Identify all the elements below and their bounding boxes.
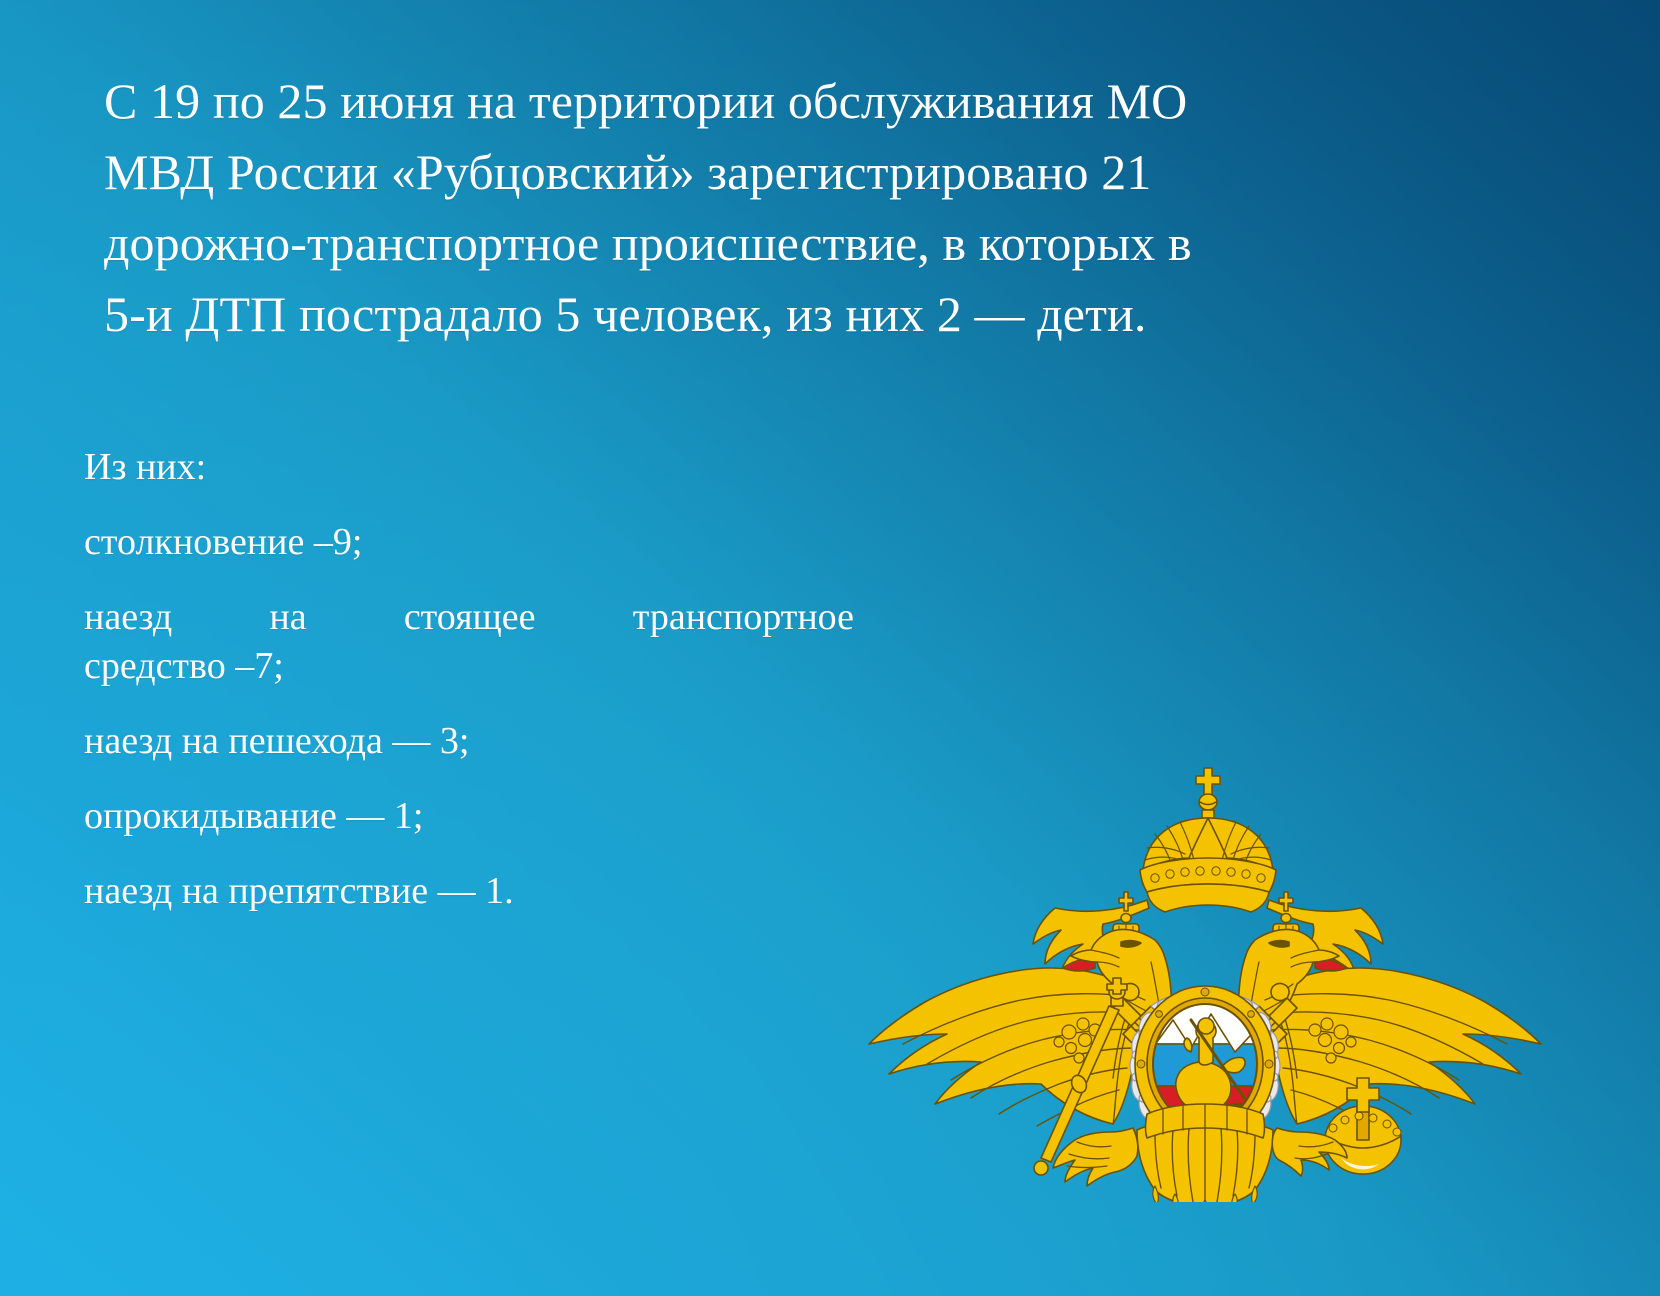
list-item-pedestrian: наезд на пешехода — 3;: [84, 717, 944, 766]
list-item-parked-vehicle-line1: наезд на стоящее транспортное: [84, 593, 854, 642]
title-line-4: 5-и ДТП пострадало 5 человек, из них 2 —…: [104, 279, 1449, 350]
breakdown-list: Из них: столкновение –9; наезд на стояще…: [84, 443, 944, 942]
mvd-emblem: [855, 762, 1555, 1202]
title-line-1: С 19 по 25 июня на территории обслуживан…: [104, 66, 1449, 137]
page-title: С 19 по 25 июня на территории обслуживан…: [104, 66, 1449, 350]
title-line-2: МВД России «Рубцовский» зарегистрировано…: [104, 137, 1449, 208]
list-item-obstacle: наезд на препятствие — 1.: [84, 867, 944, 916]
eagle-tail: [1137, 1124, 1273, 1202]
eagle-left-claw: [1053, 1128, 1138, 1186]
list-item-parked-vehicle: наезд на стоящее транспортное средство –…: [84, 593, 944, 691]
imperial-crown-icon: [1140, 768, 1276, 912]
list-item-collision: столкновение –9;: [84, 518, 944, 567]
slide-content: С 19 по 25 июня на территории обслуживан…: [0, 0, 1660, 1296]
list-item-parked-vehicle-line2: средство –7;: [84, 642, 944, 691]
eagle-right-wing: [1267, 968, 1541, 1126]
list-item-rollover: опрокидывание — 1;: [84, 792, 944, 841]
title-line-3: дорожно-транспортное происшествие, в кот…: [104, 208, 1449, 279]
slide-canvas: С 19 по 25 июня на территории обслуживан…: [0, 0, 1660, 1296]
mvd-eagle-icon: [855, 762, 1555, 1202]
list-intro: Из них:: [84, 443, 944, 492]
